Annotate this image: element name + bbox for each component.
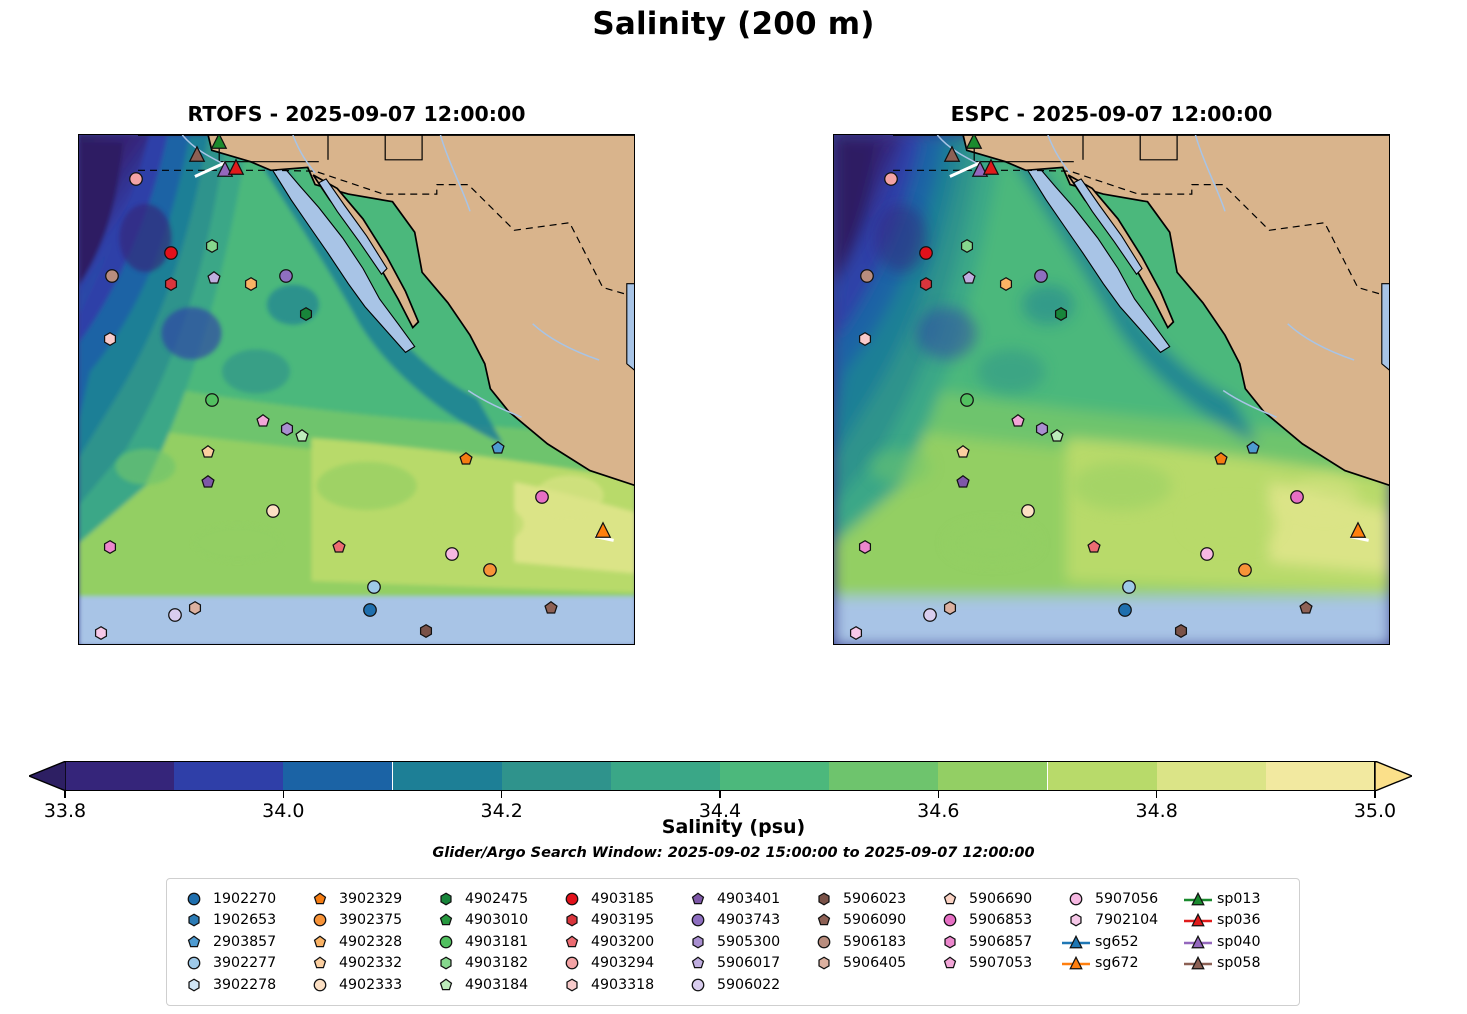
- legend-item-4903181[interactable]: 4903181: [431, 931, 557, 953]
- map-marker-5906857[interactable]: [103, 539, 118, 554]
- legend-item-1902270[interactable]: 1902270: [179, 888, 305, 910]
- lat-minor-tick: [1389, 294, 1390, 295]
- lon-minor-tick: [587, 644, 588, 645]
- map-marker-4903184[interactable]: [295, 429, 310, 444]
- lon-tickmark: [108, 134, 110, 135]
- colorbar-segment: [393, 761, 502, 791]
- lon-tickmark: [973, 134, 975, 135]
- pentagon-icon: [557, 935, 587, 949]
- map-marker-3902329[interactable]: [1214, 452, 1229, 467]
- circle-icon: [179, 892, 209, 906]
- legend-item-label: sp040: [1213, 934, 1260, 950]
- lon-minor-tick: [900, 134, 901, 135]
- lon-minor-tick: [145, 644, 146, 645]
- map-marker-3902329[interactable]: [459, 452, 474, 467]
- lon-tickmark: [163, 644, 165, 645]
- lon-tickmark: [606, 134, 608, 135]
- map-marker-4903318[interactable]: [103, 332, 118, 347]
- map-marker-5906022[interactable]: [922, 608, 937, 623]
- lon-minor-tick: [283, 644, 284, 645]
- map-marker-4903181[interactable]: [959, 393, 974, 408]
- legend-item-label: 4902475: [461, 891, 528, 907]
- lat-minor-tick: [634, 180, 635, 181]
- lon-minor-tick: [1066, 134, 1067, 135]
- lon-tickmark: [1084, 134, 1086, 135]
- lat-minor-tick: [833, 323, 834, 324]
- legend-item-label: sp058: [1213, 955, 1260, 971]
- legend-column-2: 39023293902375490232849023324902333: [305, 888, 431, 996]
- legend-column-8: 59070567902104sg652sg672: [1061, 888, 1183, 974]
- lon-minor-tick: [1370, 134, 1371, 135]
- legend-item-5906183[interactable]: 5906183: [809, 931, 935, 953]
- legend-item-5906017[interactable]: 5906017: [683, 953, 809, 975]
- map-marker-4903184[interactable]: [1050, 429, 1065, 444]
- lon-minor-tick: [1176, 644, 1177, 645]
- lat-minor-tick: [78, 237, 79, 238]
- colorbar-segment: [720, 761, 829, 791]
- lat-minor-tick: [634, 352, 635, 353]
- legend-item-3902375[interactable]: 3902375: [305, 910, 431, 932]
- legend-column-5: 49034014903743590530059060175906022: [683, 888, 809, 996]
- lon-minor-tick: [255, 134, 256, 135]
- lat-minor-tick: [1389, 495, 1390, 496]
- colorbar-tick: [1156, 791, 1157, 798]
- lon-minor-tick: [449, 644, 450, 645]
- legend-item-sp036[interactable]: sp036: [1183, 910, 1289, 932]
- map-marker-sg672[interactable]: [594, 521, 611, 538]
- map-marker-4903200[interactable]: [1087, 539, 1102, 554]
- map-marker-5906017[interactable]: [206, 271, 221, 286]
- lon-tickmark: [1139, 134, 1141, 135]
- lat-tickmark: [1389, 161, 1390, 163]
- legend-item-label: 3902329: [335, 891, 402, 907]
- legend-item-4903185[interactable]: 4903185: [557, 888, 683, 910]
- lat-minor-tick: [833, 409, 834, 410]
- map-marker-4903185[interactable]: [919, 246, 934, 261]
- colorbar-tick: [719, 791, 720, 798]
- lat-tickmark: [78, 504, 79, 506]
- legend-item-5906405[interactable]: 5906405: [809, 953, 935, 975]
- legend-item-4903184[interactable]: 4903184: [431, 974, 557, 996]
- map-marker-sg672[interactable]: [1349, 521, 1366, 538]
- lat-minor-tick: [78, 294, 79, 295]
- map-marker-4903743[interactable]: [1033, 269, 1048, 284]
- lon-minor-tick: [421, 644, 422, 645]
- lon-minor-tick: [338, 644, 339, 645]
- legend-item-label: sg652: [1091, 934, 1138, 950]
- lat-minor-tick: [833, 209, 834, 210]
- lat-minor-tick: [78, 409, 79, 410]
- lat-minor-tick: [78, 437, 79, 438]
- lon-tickmark: [863, 644, 865, 645]
- map-marker-4903401[interactable]: [201, 475, 216, 490]
- lat-minor-tick: [833, 180, 834, 181]
- lat-tickmark: [78, 161, 79, 163]
- pentagon-icon: [305, 935, 335, 949]
- map-marker-3902375[interactable]: [483, 562, 498, 577]
- lat-minor-tick: [833, 609, 834, 610]
- map-marker-5905300[interactable]: [1035, 421, 1050, 436]
- legend-item-label: 5907053: [965, 955, 1032, 971]
- map-marker-4902328[interactable]: [243, 276, 258, 291]
- map-marker-3902277[interactable]: [367, 579, 382, 594]
- legend-item-5906690[interactable]: 5906690: [935, 888, 1061, 910]
- lon-minor-tick: [1176, 134, 1177, 135]
- legend-item-4903294[interactable]: 4903294: [557, 953, 683, 975]
- legend-item-5906853[interactable]: 5906853: [935, 910, 1061, 932]
- lat-minor-tick: [78, 609, 79, 610]
- lon-minor-tick: [900, 644, 901, 645]
- map-marker-4903185[interactable]: [164, 246, 179, 261]
- lon-minor-tick: [1342, 134, 1343, 135]
- colorbar: 33.834.034.234.434.634.835.0: [29, 761, 1410, 791]
- lat-tickmark: [78, 447, 79, 449]
- map-marker-sp013[interactable]: [966, 134, 983, 149]
- legend-item-4903182[interactable]: 4903182: [431, 953, 557, 975]
- search-window-caption: Glider/Argo Search Window: 2025-09-02 15…: [0, 845, 1467, 861]
- lon-minor-tick: [311, 134, 312, 135]
- lat-tickmark: [634, 332, 635, 334]
- legend-item-label: 4903182: [461, 955, 528, 971]
- legend-item-3902277[interactable]: 3902277: [179, 953, 305, 975]
- lon-minor-tick: [1232, 134, 1233, 135]
- lon-tickmark: [1250, 644, 1252, 645]
- colorbar-tick: [938, 791, 939, 798]
- map-marker-4903182[interactable]: [204, 238, 219, 253]
- map-marker-5906183[interactable]: [860, 269, 875, 284]
- lon-minor-tick: [532, 644, 533, 645]
- legend-item-4902332[interactable]: 4902332: [305, 953, 431, 975]
- legend-item-3902278[interactable]: 3902278: [179, 974, 305, 996]
- map-marker-4902332[interactable]: [201, 444, 216, 459]
- lon-minor-tick: [449, 134, 450, 135]
- legend-item-label: 7902104: [1091, 912, 1158, 928]
- legend-column-7: 5906690590685359068575907053: [935, 888, 1061, 974]
- lon-tickmark: [329, 644, 331, 645]
- map-canvas-espc[interactable]: 33°N30°N27°N24°N21°N18°N15°N12°N9°N126°W…: [833, 134, 1390, 645]
- lon-minor-tick: [394, 644, 395, 645]
- legend-item-sp013[interactable]: sp013: [1183, 888, 1289, 910]
- map-marker-5906183[interactable]: [105, 269, 120, 284]
- lon-minor-tick: [421, 134, 422, 135]
- map-marker-4903401[interactable]: [956, 475, 971, 490]
- lon-minor-tick: [955, 644, 956, 645]
- lat-tickmark: [833, 218, 834, 220]
- map-marker-5907056[interactable]: [1199, 547, 1214, 562]
- legend-item-sg672[interactable]: sg672: [1061, 953, 1183, 975]
- lat-tickmark: [1389, 447, 1390, 449]
- legend-item-label: 3902375: [335, 912, 402, 928]
- map-marker-5906857[interactable]: [858, 539, 873, 554]
- legend-item-4903200[interactable]: 4903200: [557, 931, 683, 953]
- lon-tickmark: [1195, 644, 1197, 645]
- lon-minor-tick: [615, 134, 616, 135]
- pentagon-icon: [683, 956, 713, 970]
- lon-minor-tick: [1121, 644, 1122, 645]
- lat-minor-tick: [1389, 552, 1390, 553]
- map-marker-1902270[interactable]: [363, 602, 378, 617]
- lat-minor-tick: [634, 580, 635, 581]
- lon-tickmark: [218, 644, 220, 645]
- lat-minor-tick: [1389, 638, 1390, 639]
- lon-minor-tick: [927, 134, 928, 135]
- lat-minor-tick: [78, 352, 79, 353]
- map-canvas-rtofs[interactable]: 33°N30°N27°N24°N21°N18°N15°N12°N9°N126°W…: [78, 134, 635, 645]
- legend-item-label: 4903181: [461, 934, 528, 950]
- lon-tickmark: [495, 134, 497, 135]
- lon-minor-tick: [172, 134, 173, 135]
- lat-minor-tick: [833, 352, 834, 353]
- map-marker-sp058[interactable]: [189, 146, 206, 163]
- lon-tickmark: [329, 134, 331, 135]
- lon-minor-tick: [89, 644, 90, 645]
- lon-minor-tick: [283, 134, 284, 135]
- map-marker-5907056[interactable]: [444, 547, 459, 562]
- legend-item-sp040[interactable]: sp040: [1183, 931, 1289, 953]
- lat-minor-tick: [833, 380, 834, 381]
- legend-item-4902475[interactable]: 4902475: [431, 888, 557, 910]
- lon-tickmark: [1139, 644, 1141, 645]
- lat-minor-tick: [1389, 266, 1390, 267]
- lon-minor-tick: [844, 644, 845, 645]
- legend-item-4903195[interactable]: 4903195: [557, 910, 683, 932]
- legend-item-label: 4903010: [461, 912, 528, 928]
- lat-tickmark: [833, 332, 834, 334]
- lon-minor-tick: [1121, 134, 1122, 135]
- lat-minor-tick: [78, 523, 79, 524]
- legend-item-5907053[interactable]: 5907053: [935, 953, 1061, 975]
- map-marker-5906090[interactable]: [544, 600, 559, 615]
- map-marker-4903195[interactable]: [919, 276, 934, 291]
- circle-icon: [557, 892, 587, 906]
- lon-tickmark: [440, 644, 442, 645]
- pentagon-icon: [179, 935, 209, 949]
- legend-item-1902653[interactable]: 1902653: [179, 910, 305, 932]
- map-marker-5907053[interactable]: [1011, 414, 1026, 429]
- lon-minor-tick: [560, 644, 561, 645]
- lat-tickmark: [78, 275, 79, 277]
- map-marker-3902375[interactable]: [1238, 562, 1253, 577]
- legend-item-4903401[interactable]: 4903401: [683, 888, 809, 910]
- lon-minor-tick: [117, 644, 118, 645]
- legend-item-label: 3902278: [209, 977, 276, 993]
- legend-item-3902329[interactable]: 3902329: [305, 888, 431, 910]
- map-marker-4902333[interactable]: [265, 503, 280, 518]
- lon-minor-tick: [1204, 134, 1205, 135]
- map-marker-2903857[interactable]: [1245, 440, 1260, 455]
- circle-icon: [1061, 892, 1091, 906]
- lon-minor-tick: [504, 134, 505, 135]
- lon-minor-tick: [311, 644, 312, 645]
- lon-tickmark: [918, 644, 920, 645]
- legend-item-2903857[interactable]: 2903857: [179, 931, 305, 953]
- map-marker-5906853[interactable]: [534, 490, 549, 505]
- lon-minor-tick: [228, 644, 229, 645]
- map-marker-4902328[interactable]: [998, 276, 1013, 291]
- map-marker-4903181[interactable]: [204, 393, 219, 408]
- lat-minor-tick: [634, 380, 635, 381]
- lat-minor-tick: [78, 552, 79, 553]
- legend-item-4902328[interactable]: 4902328: [305, 931, 431, 953]
- map-marker-5906090[interactable]: [1299, 600, 1314, 615]
- map-marker-5906017[interactable]: [961, 271, 976, 286]
- lat-minor-tick: [634, 323, 635, 324]
- map-marker-4902475[interactable]: [298, 307, 313, 322]
- map-marker-sp036[interactable]: [982, 159, 999, 176]
- legend-item-5906022[interactable]: 5906022: [683, 974, 809, 996]
- legend-item-7902104[interactable]: 7902104: [1061, 910, 1183, 932]
- lat-minor-tick: [1389, 180, 1390, 181]
- lon-minor-tick: [927, 644, 928, 645]
- map-marker-4902475[interactable]: [1053, 307, 1068, 322]
- lat-tickmark: [78, 332, 79, 334]
- lon-minor-tick: [955, 134, 956, 135]
- lat-minor-tick: [1389, 151, 1390, 152]
- lat-minor-tick: [78, 180, 79, 181]
- map-marker-sp058[interactable]: [944, 146, 961, 163]
- colorbar-segment: [611, 761, 720, 791]
- lat-tickmark: [634, 275, 635, 277]
- map-marker-4903294[interactable]: [129, 171, 144, 186]
- legend-item-5906023[interactable]: 5906023: [809, 888, 935, 910]
- lat-tickmark: [1389, 561, 1390, 563]
- map-marker-5905300[interactable]: [280, 421, 295, 436]
- lon-minor-tick: [532, 134, 533, 135]
- colorbar-segment: [174, 761, 283, 791]
- lon-tickmark: [1084, 644, 1086, 645]
- legend-item-label: 4903184: [461, 977, 528, 993]
- lon-minor-tick: [1315, 134, 1316, 135]
- legend-column-6: 5906023590609059061835906405: [809, 888, 935, 974]
- lat-tickmark: [1389, 504, 1390, 506]
- legend-item-label: 4902332: [335, 955, 402, 971]
- legend-item-5907056[interactable]: 5907056: [1061, 888, 1183, 910]
- map-marker-4903294[interactable]: [884, 171, 899, 186]
- lon-minor-tick: [1038, 134, 1039, 135]
- map-marker-4902333[interactable]: [1020, 503, 1035, 518]
- lon-tickmark: [1305, 644, 1307, 645]
- map-marker-5906023[interactable]: [418, 623, 433, 638]
- pentagon-icon: [305, 892, 335, 906]
- lat-minor-tick: [634, 638, 635, 639]
- lon-minor-tick: [338, 134, 339, 135]
- map-marker-5906853[interactable]: [1289, 490, 1304, 505]
- lon-tickmark: [550, 644, 552, 645]
- map-marker-sp013[interactable]: [211, 134, 228, 149]
- colorbar-segment: [283, 761, 392, 791]
- lat-minor-tick: [78, 380, 79, 381]
- map-marker-4903318[interactable]: [858, 332, 873, 347]
- lon-minor-tick: [172, 644, 173, 645]
- lon-minor-tick: [1149, 644, 1150, 645]
- legend-item-label: 5906857: [965, 934, 1032, 950]
- lon-minor-tick: [1093, 644, 1094, 645]
- lat-minor-tick: [634, 495, 635, 496]
- legend-column-3: 49024754903010490318149031824903184: [431, 888, 557, 996]
- legend-item-label: sp013: [1213, 891, 1260, 907]
- map-marker-4903182[interactable]: [959, 238, 974, 253]
- map-marker-5906405[interactable]: [943, 600, 958, 615]
- lat-minor-tick: [78, 580, 79, 581]
- map-marker-5907053[interactable]: [256, 414, 271, 429]
- lat-minor-tick: [833, 552, 834, 553]
- lon-minor-tick: [615, 644, 616, 645]
- lat-minor-tick: [833, 437, 834, 438]
- legend-item-label: 3902277: [209, 955, 276, 971]
- lon-tickmark: [1305, 134, 1307, 135]
- legend-item-4903318[interactable]: 4903318: [557, 974, 683, 996]
- hexagon-icon: [431, 892, 461, 906]
- colorbar-segment: [502, 761, 611, 791]
- hexagon-icon: [431, 956, 461, 970]
- circle-icon: [683, 978, 713, 992]
- hexagon-icon: [809, 892, 839, 906]
- lat-tickmark: [833, 561, 834, 563]
- map-marker-4902332[interactable]: [956, 444, 971, 459]
- lat-tickmark: [833, 275, 834, 277]
- map-marker-4903743[interactable]: [278, 269, 293, 284]
- lon-tickmark: [384, 644, 386, 645]
- lat-tickmark: [634, 390, 635, 392]
- legend-item-5906857[interactable]: 5906857: [935, 931, 1061, 953]
- map-marker-1902270[interactable]: [1118, 602, 1133, 617]
- legend-item-label: 5906405: [839, 955, 906, 971]
- hexagon-icon: [557, 913, 587, 927]
- map-marker-3902277[interactable]: [1122, 579, 1137, 594]
- hexagon-icon: [179, 978, 209, 992]
- legend-column-9: sp013sp036sp040sp058: [1183, 888, 1289, 974]
- map-marker-5906022[interactable]: [167, 608, 182, 623]
- lat-minor-tick: [634, 609, 635, 610]
- legend-item-4902333[interactable]: 4902333: [305, 974, 431, 996]
- map-marker-4903195[interactable]: [164, 276, 179, 291]
- legend-item-sp058[interactable]: sp058: [1183, 953, 1289, 975]
- legend-item-5905300[interactable]: 5905300: [683, 931, 809, 953]
- circle-icon: [179, 956, 209, 970]
- lon-minor-tick: [200, 644, 201, 645]
- pentagon-icon: [431, 978, 461, 992]
- map-marker-5906023[interactable]: [1173, 623, 1188, 638]
- lat-minor-tick: [78, 323, 79, 324]
- circle-icon: [809, 935, 839, 949]
- pentagon-icon: [683, 892, 713, 906]
- lon-minor-tick: [1149, 134, 1150, 135]
- map-marker-7902104[interactable]: [849, 625, 864, 640]
- legend-item-label: 5906853: [965, 912, 1032, 928]
- lat-minor-tick: [78, 209, 79, 210]
- map-marker-sp036[interactable]: [227, 159, 244, 176]
- lat-minor-tick: [1389, 580, 1390, 581]
- map-marker-4903200[interactable]: [332, 539, 347, 554]
- lon-minor-tick: [872, 644, 873, 645]
- map-marker-7902104[interactable]: [94, 625, 109, 640]
- legend-item-4903010[interactable]: 4903010: [431, 910, 557, 932]
- legend-item-sg652[interactable]: sg652: [1061, 931, 1183, 953]
- lon-tickmark: [1361, 644, 1363, 645]
- legend-item-4903743[interactable]: 4903743: [683, 910, 809, 932]
- map-marker-5906405[interactable]: [188, 600, 203, 615]
- lon-minor-tick: [366, 644, 367, 645]
- legend-item-5906090[interactable]: 5906090: [809, 910, 935, 932]
- lat-tickmark: [1389, 218, 1390, 220]
- map-marker-2903857[interactable]: [490, 440, 505, 455]
- lon-tickmark: [863, 134, 865, 135]
- lat-minor-tick: [1389, 237, 1390, 238]
- lon-minor-tick: [1010, 134, 1011, 135]
- lon-minor-tick: [844, 134, 845, 135]
- colorbar-tick: [283, 791, 284, 798]
- legend-item-label: 4903200: [587, 934, 654, 950]
